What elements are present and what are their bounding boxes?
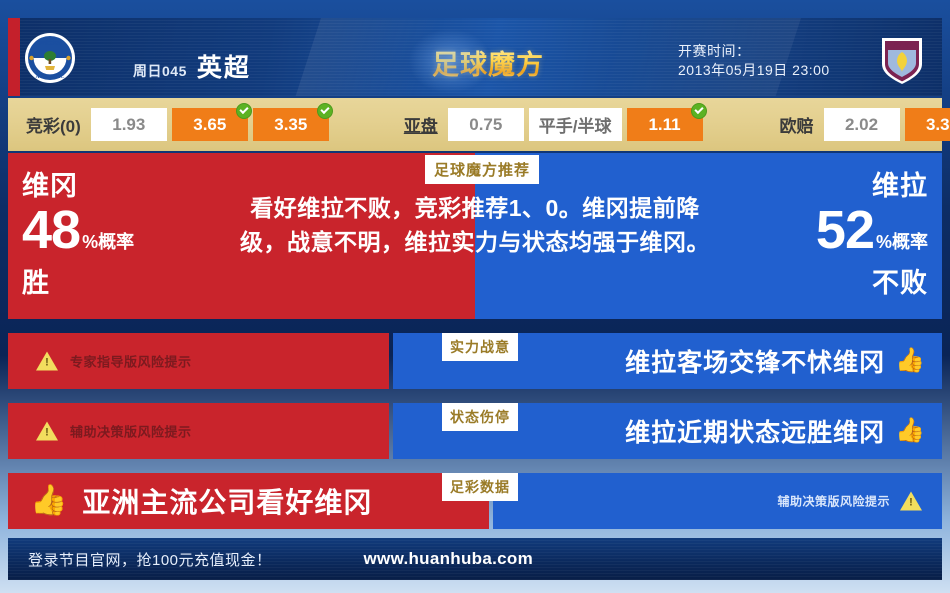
info-row-betting-data: 👍 亚洲主流公司看好维冈 辅助决策版风险提示 足彩数据 — [8, 473, 942, 529]
odds-cell-away[interactable]: 1.11 — [627, 108, 703, 141]
thumbs-up-icon: 👍 — [895, 349, 926, 373]
away-team-name: 维拉 — [816, 171, 928, 201]
svg-text:AVFC: AVFC — [893, 42, 912, 50]
info-row-tag: 实力战意 — [442, 333, 518, 361]
home-probability-value: 48 — [22, 203, 80, 257]
info-row-left-panel: 辅助决策版风险提示 — [8, 403, 389, 459]
odds-group-asian-handicap: 亚盘 0.75 平手/半球 1.11 — [404, 108, 708, 141]
home-probability-unit: %概率 — [82, 233, 134, 251]
away-probability-block: 维拉 52 %概率 不败 — [816, 171, 928, 300]
away-probability-value: 52 — [816, 203, 874, 257]
info-row-right-panel: 辅助决策版风险提示 — [493, 473, 942, 529]
info-row-tag: 足彩数据 — [442, 473, 518, 501]
risk-notice: 专家指导版风险提示 — [36, 352, 192, 371]
away-probability: 52 %概率 — [816, 203, 928, 257]
kickoff-info: 开赛时间： 2013年05月19日 23:00 — [678, 42, 830, 80]
league-name: 英超 — [197, 48, 251, 84]
home-probability: 48 %概率 — [22, 203, 134, 257]
match-round-label: 周日045 — [133, 61, 187, 81]
recommendation-text: 看好维拉不败，竞彩推荐1、0。维冈提前降级，战意不明，维拉实力与状态均强于维冈。 — [240, 191, 710, 259]
odds-cell-draw[interactable]: 3.36 — [905, 108, 950, 141]
risk-notice-text: 辅助决策版风险提示 — [777, 493, 890, 510]
risk-notice-text: 辅助决策版风险提示 — [70, 422, 192, 441]
home-probability-block: 维冈 48 %概率 胜 — [22, 171, 134, 300]
odds-cell-handicap[interactable]: 平手/半球 — [529, 108, 622, 141]
check-icon — [317, 103, 333, 119]
info-row-left-panel: 专家指导版风险提示 — [8, 333, 389, 389]
svg-text:WIGAN: WIGAN — [38, 40, 62, 47]
info-row-form: 辅助决策版风险提示 维拉近期状态远胜维冈 👍 状态伤停 — [8, 403, 942, 459]
info-row-message: 维拉客场交锋不怵维冈 👍 — [625, 343, 926, 379]
home-team-crest-icon: WIGAN ATHLETIC — [24, 32, 76, 84]
thumbs-up-icon: 👍 — [895, 419, 926, 443]
odds-group-label: 竞彩(0) — [26, 112, 81, 137]
warning-icon — [900, 492, 922, 511]
kickoff-datetime: 2013年05月19日 23:00 — [678, 61, 830, 80]
odds-cell-away[interactable]: 3.35 — [253, 108, 329, 141]
risk-notice: 辅助决策版风险提示 — [36, 422, 192, 441]
check-icon — [691, 103, 707, 119]
odds-cell-value: 3.65 — [193, 115, 226, 135]
odds-cell-home[interactable]: 0.75 — [448, 108, 524, 141]
brand-logo: 足球魔方 — [423, 42, 553, 82]
odds-cell-value: 3.36 — [926, 115, 950, 135]
info-row-strength: 专家指导版风险提示 维拉客场交锋不怵维冈 👍 实力战意 — [8, 333, 942, 389]
odds-group-label: 亚盘 — [404, 112, 438, 137]
home-team-name: 维冈 — [22, 171, 134, 201]
footer-website-url[interactable]: www.huanhuba.com — [364, 549, 533, 569]
odds-cell-value: 3.35 — [274, 115, 307, 135]
odds-group-label: 欧赔 — [780, 112, 814, 137]
footer-promo-text: 登录节目官网，抢100元充值现金！ — [28, 549, 272, 570]
match-header: WIGAN ATHLETIC 周日045 英超 足球魔方 开赛时间： 2013年… — [8, 18, 942, 96]
prediction-panel: 维冈 48 %概率 胜 维拉 52 %概率 不败 足球魔方推荐 看好维拉不败，竞… — [8, 153, 942, 319]
info-row-message: 👍 亚洲主流公司看好维冈 — [30, 481, 372, 521]
odds-bar: 竞彩(0) 1.93 3.65 3.35 亚盘 0.75 平手/半球 1.11 … — [8, 98, 942, 151]
odds-group-european: 欧赔 2.02 3.36 3.54 — [780, 108, 950, 141]
warning-icon — [36, 352, 58, 371]
recommendation-tag: 足球魔方推荐 — [425, 155, 539, 184]
brand-name: 足球魔方 — [432, 43, 544, 82]
header-accent-bar — [8, 18, 20, 96]
match-identifier: 周日045 英超 — [133, 48, 251, 84]
kickoff-label: 开赛时间： — [678, 42, 830, 61]
risk-notice: 辅助决策版风险提示 — [777, 492, 922, 511]
warning-icon — [36, 422, 58, 441]
broadcast-graphic: WIGAN ATHLETIC 周日045 英超 足球魔方 开赛时间： 2013年… — [0, 0, 950, 593]
info-row-tag: 状态伤停 — [442, 403, 518, 431]
odds-cell-home[interactable]: 2.02 — [824, 108, 900, 141]
info-row-left-panel: 👍 亚洲主流公司看好维冈 — [8, 473, 489, 529]
odds-group-jingcai: 竞彩(0) 1.93 3.65 3.35 — [26, 108, 334, 141]
footer-bar: 登录节目官网，抢100元充值现金！ www.huanhuba.com — [8, 538, 942, 580]
risk-notice-text: 专家指导版风险提示 — [70, 352, 192, 371]
away-probability-unit: %概率 — [876, 233, 928, 251]
info-row-message-text: 维拉客场交锋不怵维冈 — [625, 343, 885, 379]
odds-cell-value: 1.11 — [648, 115, 680, 135]
info-row-message-text: 亚洲主流公司看好维冈 — [82, 481, 372, 521]
check-icon — [236, 103, 252, 119]
info-row-message-text: 维拉近期状态远胜维冈 — [625, 413, 885, 449]
thumbs-up-icon: 👍 — [30, 486, 68, 516]
away-outcome-label: 不败 — [816, 261, 928, 300]
home-outcome-label: 胜 — [22, 261, 134, 300]
odds-cell-home[interactable]: 1.93 — [91, 108, 167, 141]
svg-text:ATHLETIC: ATHLETIC — [35, 74, 64, 80]
odds-cell-draw[interactable]: 3.65 — [172, 108, 248, 141]
away-team-crest-icon: AVFC — [876, 32, 928, 84]
info-row-message: 维拉近期状态远胜维冈 👍 — [625, 413, 926, 449]
